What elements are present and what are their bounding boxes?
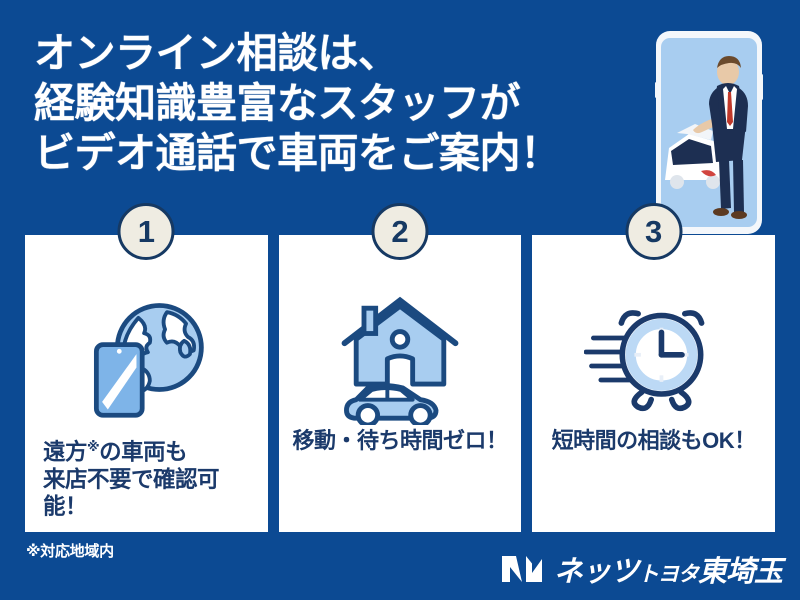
caption-1-part-b: の車両も xyxy=(99,440,187,465)
step-badge-2: 2 xyxy=(372,203,429,260)
dealer-logo-text: ネッツトヨタ東埼玉 xyxy=(554,548,782,590)
caption-1-part-a: 遠方 xyxy=(43,440,87,465)
page-title: オンライン相談は、 経験知識豊富なスタッフが ビデオ通話で車両をご案内！ xyxy=(34,28,644,178)
logo-text-region: 東埼玉 xyxy=(698,556,782,588)
headline-line-1: オンライン相談は、 xyxy=(34,28,644,78)
benefit-card-2: 2 移動・待ち時間ゼロ！ xyxy=(279,235,522,532)
benefit-cards: 1 遠方※の車両も来店不要で確認可能！ 2 xyxy=(25,235,775,532)
benefit-caption-3: 短時間の相談もOK！ xyxy=(546,427,762,454)
alarm-clock-speed-icon xyxy=(584,277,724,427)
benefit-card-3: 3 xyxy=(532,235,775,532)
smartphone-globe-icon xyxy=(83,283,209,433)
logo-text-toyota: トヨタ xyxy=(638,563,698,586)
smartphone-video-call-illustration xyxy=(655,30,763,235)
headline-line-2: 経験知識豊富なスタッフが xyxy=(34,78,644,128)
netz-n-mark-icon xyxy=(500,554,544,584)
step-badge-3: 3 xyxy=(625,203,682,260)
logo-text-netz: ネッツ xyxy=(554,556,638,588)
footnote-coverage-area: ※対応地域内 xyxy=(26,540,114,561)
step-badge-1: 1 xyxy=(118,203,175,260)
benefit-card-1: 1 遠方※の車両も来店不要で確認可能！ xyxy=(25,235,268,532)
caption-1-asterisk: ※ xyxy=(87,439,99,454)
benefit-caption-1: 遠方※の車両も来店不要で確認可能！ xyxy=(25,433,268,520)
caption-1-line-2: 来店不要で確認可能！ xyxy=(43,467,219,519)
dealer-logo: ネッツトヨタ東埼玉 xyxy=(500,548,782,590)
benefit-caption-2: 移動・待ち時間ゼロ！ xyxy=(287,427,514,454)
online-consultation-banner: オンライン相談は、 経験知識豊富なスタッフが ビデオ通話で車両をご案内！ xyxy=(0,0,800,600)
house-car-icon xyxy=(327,277,473,427)
headline-line-3: ビデオ通話で車両をご案内！ xyxy=(34,128,644,178)
